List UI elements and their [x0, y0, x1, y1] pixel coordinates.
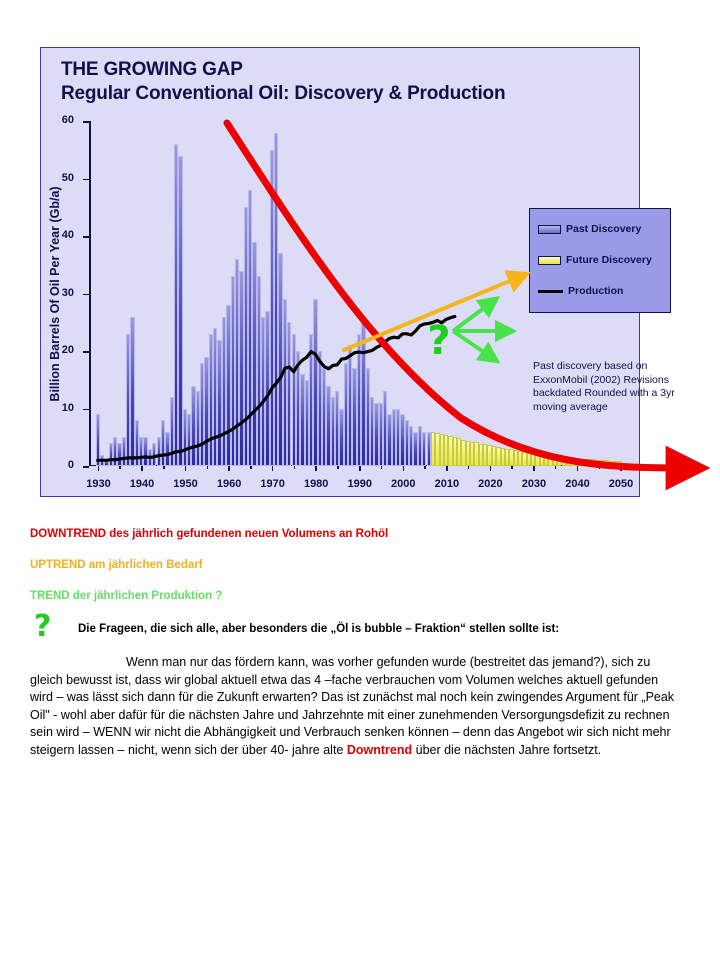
legend-label-future: Future Discovery — [566, 254, 652, 266]
x-minor-tick-1985 — [337, 466, 339, 469]
headline-uptrend: UPTREND am jährlichen Bedarf — [30, 559, 203, 571]
x-tick-1950: 1950 — [185, 466, 187, 471]
paragraph-highlight: Downtrend — [347, 743, 412, 757]
x-minor-tick-1975 — [294, 466, 296, 469]
x-tick-2030: 2030 — [533, 466, 535, 471]
x-tick-label-1960: 1960 — [217, 478, 241, 490]
y-axis-title: Billion Barrels Of Oil Per Year (Gb/a) — [48, 186, 62, 401]
x-tick-1990: 1990 — [359, 466, 361, 471]
chart-title: THE GROWING GAP Regular Conventional Oil… — [61, 58, 505, 106]
legend-swatch-line-icon — [538, 290, 563, 293]
x-minor-tick-2005 — [424, 466, 426, 469]
legend-swatch-future-icon — [538, 256, 561, 265]
x-tick-label-2000: 2000 — [391, 478, 415, 490]
x-tick-label-1980: 1980 — [304, 478, 328, 490]
x-tick-label-1970: 1970 — [260, 478, 284, 490]
x-minor-tick-2035 — [555, 466, 557, 469]
legend-item-future: Future Discovery — [538, 254, 652, 266]
y-tick-label-60: 60 — [62, 114, 74, 126]
x-tick-label-1990: 1990 — [348, 478, 372, 490]
chart-panel: THE GROWING GAP Regular Conventional Oil… — [40, 47, 640, 497]
x-minor-tick-1995 — [381, 466, 383, 469]
y-tick-label-50: 50 — [62, 172, 74, 184]
x-tick-2020: 2020 — [490, 466, 492, 471]
chart-annotation: Past discovery based on ExxonMobil (2002… — [533, 360, 683, 414]
legend-swatch-past-icon — [538, 225, 561, 234]
question-line: Die Frageen, die sich alle, aber besonde… — [78, 623, 559, 635]
x-tick-1970: 1970 — [272, 466, 274, 471]
headline-downtrend: DOWNTREND des jährlich gefundenen neuen … — [30, 528, 388, 540]
x-tick-1930: 1930 — [98, 466, 100, 471]
x-tick-2010: 2010 — [446, 466, 448, 471]
x-tick-2040: 2040 — [577, 466, 579, 471]
x-minor-tick-2025 — [511, 466, 513, 469]
x-tick-label-1950: 1950 — [173, 478, 197, 490]
body-paragraph: Wenn man nur das fördern kann, was vorhe… — [30, 654, 682, 759]
y-tick-label-40: 40 — [62, 229, 74, 241]
x-tick-label-2040: 2040 — [565, 478, 589, 490]
paragraph-part1: Wenn man nur das fördern kann, was vorhe… — [30, 655, 674, 757]
x-tick-2000: 2000 — [403, 466, 405, 471]
paragraph-part2: über die nächsten Jahre fortsetzt. — [412, 743, 601, 757]
x-tick-1960: 1960 — [228, 466, 230, 471]
x-minor-tick-1965 — [250, 466, 252, 469]
x-tick-label-1940: 1940 — [130, 478, 154, 490]
x-minor-tick-2015 — [468, 466, 470, 469]
green-question-mark-icon: ? — [34, 612, 51, 642]
production-line — [98, 317, 455, 461]
x-tick-label-2020: 2020 — [478, 478, 502, 490]
y-tick-label-20: 20 — [62, 344, 74, 356]
x-minor-tick-1945 — [163, 466, 165, 469]
chart-legend: Past DiscoveryFuture DiscoveryProduction — [529, 208, 671, 313]
x-tick-label-1930: 1930 — [86, 478, 110, 490]
x-minor-tick-2045 — [599, 466, 601, 469]
legend-item-past: Past Discovery — [538, 223, 641, 235]
y-tick-label-0: 0 — [68, 459, 74, 471]
x-minor-tick-1935 — [119, 466, 121, 469]
x-tick-label-2030: 2030 — [522, 478, 546, 490]
x-minor-tick-1955 — [207, 466, 209, 469]
x-tick-label-2010: 2010 — [435, 478, 459, 490]
legend-item-line: Production — [538, 285, 623, 297]
y-tick-label-10: 10 — [62, 402, 74, 414]
x-tick-label-2050: 2050 — [609, 478, 633, 490]
x-tick-1940: 1940 — [141, 466, 143, 471]
x-tick-2050: 2050 — [620, 466, 622, 471]
chart-title-line1: THE GROWING GAP — [61, 58, 505, 82]
y-tick-0: 0 — [83, 466, 89, 468]
chart-title-line2: Regular Conventional Oil: Discovery & Pr… — [61, 82, 505, 106]
legend-label-line: Production — [568, 285, 623, 297]
y-tick-label-30: 30 — [62, 287, 74, 299]
x-tick-1980: 1980 — [315, 466, 317, 471]
headline-trend: TREND der jährlichen Produktion ? — [30, 590, 222, 602]
legend-label-past: Past Discovery — [566, 223, 641, 235]
